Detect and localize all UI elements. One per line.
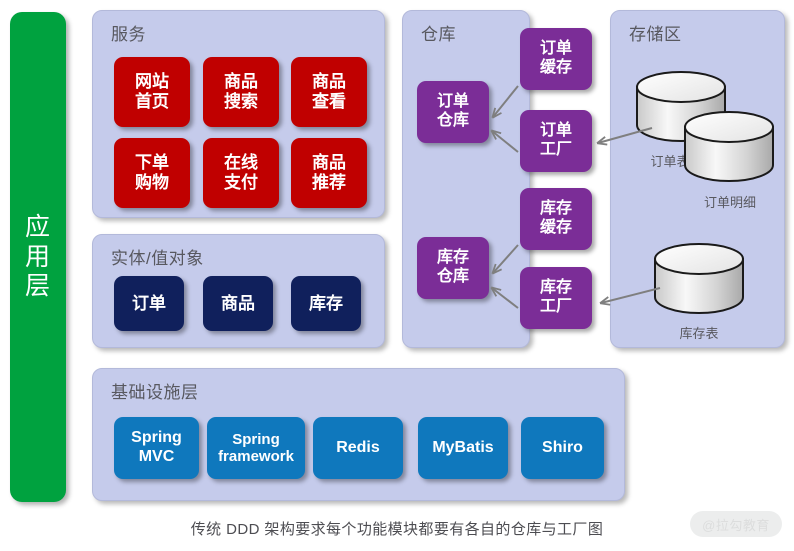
repository-panel: 仓库 订单 仓库 库存 仓库 (402, 10, 530, 348)
database-cylinder-order-detail (681, 111, 777, 189)
node-line: 商品 (312, 72, 346, 92)
infrastructure-panel-title: 基础设施层 (111, 378, 199, 403)
service-node-website-home[interactable]: 网站 首页 (114, 57, 190, 127)
application-layer-label: 应 用 层 (10, 213, 66, 302)
node-line: 商品 (224, 72, 258, 92)
service-node-product-view[interactable]: 商品 查看 (291, 57, 367, 127)
factory-node-order-cache[interactable]: 订单 缓存 (520, 28, 592, 90)
storage-panel-title: 存储区 (629, 20, 682, 45)
node-line: 库存 (540, 200, 572, 219)
infra-node-shiro[interactable]: Shiro (521, 417, 604, 479)
node-line: 工厂 (540, 298, 572, 317)
entity-node-inventory[interactable]: 库存 (291, 276, 361, 331)
node-line: MVC (131, 448, 182, 467)
node-line: Spring (218, 431, 294, 448)
node-line: 订单 (540, 40, 572, 59)
storage-panel: 存储区 订单表 (610, 10, 785, 348)
node-line: 库存 (437, 249, 469, 268)
entity-panel-title: 实体/值对象 (111, 244, 204, 269)
application-layer-bar: 应 用 层 (10, 12, 66, 502)
app-layer-char-1: 用 (10, 242, 66, 272)
infra-node-spring-mvc[interactable]: Spring MVC (114, 417, 199, 479)
factory-node-inventory-factory[interactable]: 库存 工厂 (520, 267, 592, 329)
node-line: 订单 (132, 294, 166, 314)
service-node-place-order[interactable]: 下单 购物 (114, 138, 190, 208)
diagram-caption: 传统 DDD 架构要求每个功能模块都要有各自的仓库与工厂图 (0, 518, 794, 539)
service-panel-title: 服务 (111, 20, 146, 45)
node-line: 搜索 (224, 92, 258, 112)
node-line: 在线 (224, 153, 258, 173)
node-line: 首页 (135, 92, 169, 112)
node-line: 仓库 (437, 268, 469, 287)
node-line: framework (218, 448, 294, 465)
node-line: 网站 (135, 72, 169, 92)
storage-label-order-detail: 订单明细 (684, 192, 776, 211)
infra-node-mybatis[interactable]: MyBatis (418, 417, 508, 479)
node-line: 订单 (437, 93, 469, 112)
node-line: Shiro (542, 439, 583, 458)
database-cylinder-inventory-table (651, 243, 747, 321)
infra-node-redis[interactable]: Redis (313, 417, 403, 479)
node-line: 推荐 (312, 173, 346, 193)
node-line: 库存 (309, 294, 343, 314)
node-line: 工厂 (540, 141, 572, 160)
node-line: 购物 (135, 173, 169, 193)
infra-node-spring-framework[interactable]: Spring framework (207, 417, 305, 479)
node-line: 订单 (540, 122, 572, 141)
node-line: 下单 (135, 153, 169, 173)
app-layer-char-0: 应 (10, 213, 66, 243)
node-line: 查看 (312, 92, 346, 112)
repository-node-order-repository[interactable]: 订单 仓库 (417, 81, 489, 143)
node-line: 商品 (312, 153, 346, 173)
storage-label-inventory-table: 库存表 (653, 323, 745, 342)
entity-value-object-panel: 实体/值对象 订单 商品 库存 (92, 234, 385, 348)
node-line: MyBatis (432, 439, 493, 458)
service-panel: 服务 网站 首页 商品 搜索 商品 查看 下单 购物 在线 支付 商品 推荐 (92, 10, 385, 218)
repository-node-inventory-repository[interactable]: 库存 仓库 (417, 237, 489, 299)
node-line: 支付 (224, 173, 258, 193)
repository-panel-title: 仓库 (421, 20, 456, 45)
entity-node-order[interactable]: 订单 (114, 276, 184, 331)
service-node-product-search[interactable]: 商品 搜索 (203, 57, 279, 127)
entity-node-product[interactable]: 商品 (203, 276, 273, 331)
factory-node-inventory-cache[interactable]: 库存 缓存 (520, 188, 592, 250)
app-layer-char-2: 层 (10, 272, 66, 302)
node-line: 缓存 (540, 219, 572, 238)
service-node-online-payment[interactable]: 在线 支付 (203, 138, 279, 208)
node-line: 商品 (221, 294, 255, 314)
node-line: 库存 (540, 279, 572, 298)
infrastructure-panel: 基础设施层 Spring MVC Spring framework Redis … (92, 368, 625, 501)
factory-node-order-factory[interactable]: 订单 工厂 (520, 110, 592, 172)
watermark-badge: @拉勾教育 (690, 511, 782, 537)
node-line: 缓存 (540, 59, 572, 78)
node-line: 仓库 (437, 112, 469, 131)
service-node-product-recommend[interactable]: 商品 推荐 (291, 138, 367, 208)
node-line: Redis (336, 439, 380, 458)
node-line: Spring (131, 429, 182, 448)
